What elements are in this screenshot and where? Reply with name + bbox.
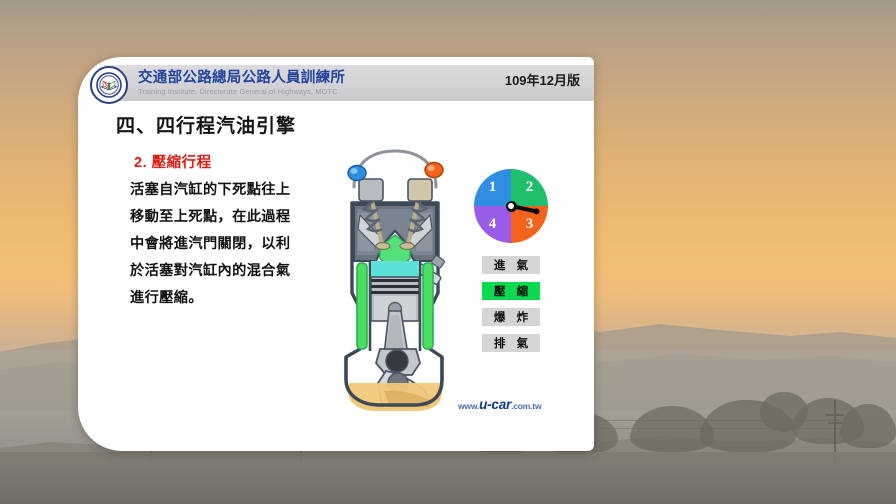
slide-body-text: 活塞自汽缸的下死點往上 移動至上死點，在此過程 中會將進汽門關閉，以利 於活塞對…	[130, 177, 342, 312]
body-line: 中會將進汽門關閉，以利	[130, 231, 342, 258]
stage-compression[interactable]: 壓 縮	[482, 282, 540, 300]
ucar-watermark: www.u-car.com.tw	[458, 397, 541, 412]
utility-pole-crossarm	[826, 414, 844, 416]
stage-exhaust[interactable]: 排 氣	[482, 334, 540, 352]
stage-label: 爆 炸	[490, 309, 532, 325]
slide-card: 交通部公路總局公路人員訓練所 Training Institute, Direc…	[78, 57, 594, 451]
four-stroke-engine-cutaway	[324, 143, 466, 413]
training-institute-emblem-icon	[90, 66, 128, 104]
foreground-ground	[0, 452, 896, 504]
body-line: 活塞自汽缸的下死點往上	[130, 177, 342, 204]
header-version-date: 109年12月版	[505, 70, 580, 89]
dial-quadrant-4: 4	[474, 206, 511, 243]
section-title: 2. 壓縮行程	[134, 151, 212, 172]
stage-combustion[interactable]: 爆 炸	[482, 308, 540, 326]
dial-quadrant-1: 1	[474, 169, 511, 206]
header-subtitle: Training Institute, Directorate General …	[138, 88, 345, 95]
body-line: 於活塞對汽缸內的混合氣	[130, 258, 342, 285]
watermark-prefix: www.	[458, 401, 479, 411]
stroke-stage-list: 進 氣 壓 縮 爆 炸 排 氣	[482, 256, 542, 360]
dial-hub	[506, 201, 517, 212]
power-line	[600, 420, 840, 421]
header-title: 交通部公路總局公路人員訓練所	[138, 71, 345, 86]
dial-quadrant-label: 1	[489, 179, 497, 196]
stage-label: 進 氣	[490, 257, 532, 273]
dial-quadrant-label: 3	[526, 216, 534, 233]
stage-label: 壓 縮	[490, 283, 532, 299]
power-line	[600, 428, 840, 429]
dial-quadrant-label: 2	[526, 179, 534, 196]
slide-screenshot: 交通部公路總局公路人員訓練所 Training Institute, Direc…	[0, 0, 896, 504]
utility-pole-crossarm	[828, 422, 842, 424]
slide-title: 四、四行程汽油引擎	[116, 111, 296, 138]
slide-header-band: 交通部公路總局公路人員訓練所 Training Institute, Direc…	[104, 65, 594, 101]
watermark-suffix: .com.tw	[511, 401, 541, 411]
stage-intake[interactable]: 進 氣	[482, 256, 540, 274]
watermark-main: u-car	[479, 397, 511, 412]
dial-quadrant-2: 2	[511, 169, 548, 206]
four-stroke-cycle-dial: 1 2 3 4	[474, 169, 548, 243]
dial-quadrant-label: 4	[489, 216, 497, 233]
body-line: 移動至上死點，在此過程	[130, 204, 342, 231]
body-line: 進行壓縮。	[130, 285, 342, 312]
stage-label: 排 氣	[490, 335, 532, 351]
